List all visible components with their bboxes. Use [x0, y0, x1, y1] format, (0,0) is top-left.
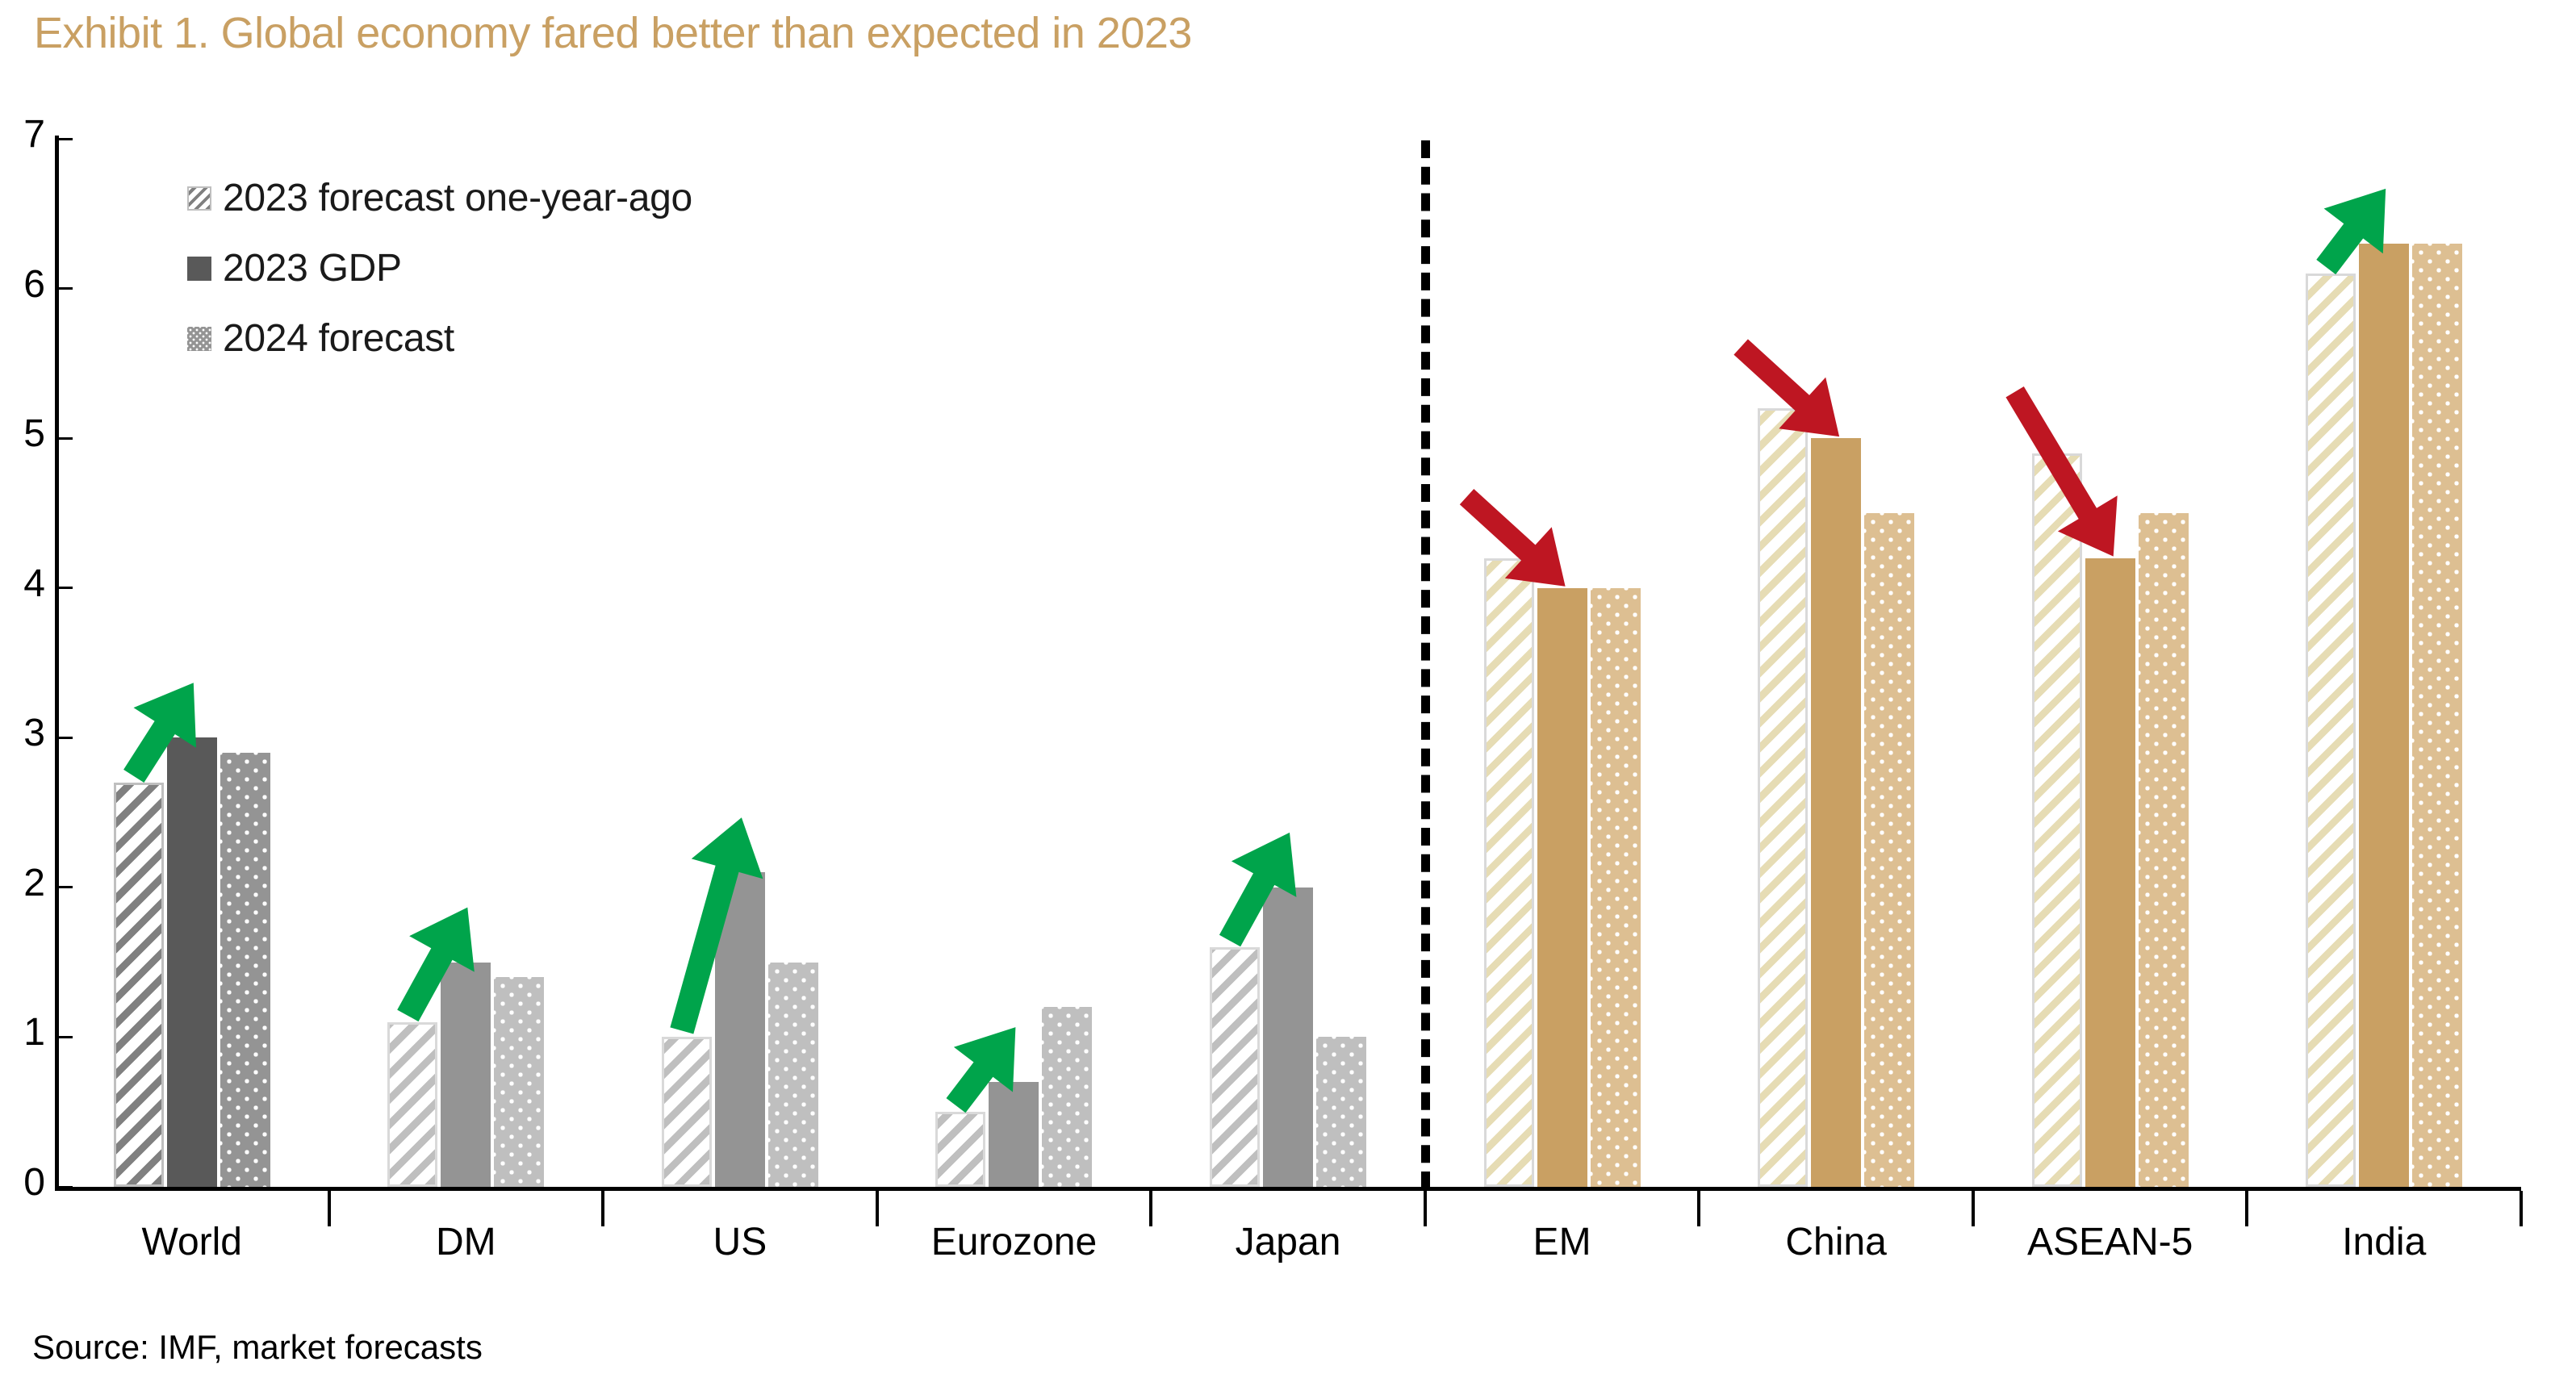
annotation-arrow	[2316, 189, 2386, 274]
annotation-arrow	[1460, 489, 1566, 587]
annotation-arrow	[123, 683, 196, 783]
chart-canvas: Exhibit 1. Global economy fared better t…	[0, 0, 2576, 1395]
annotation-arrow	[947, 1027, 1016, 1113]
annotation-arrow	[2006, 386, 2118, 557]
annotation-arrow	[1733, 339, 1839, 436]
annotation-arrow	[1219, 833, 1297, 946]
source-note: Source: IMF, market forecasts	[32, 1328, 483, 1367]
annotation-arrow	[670, 817, 763, 1034]
annotation-arrow	[397, 908, 475, 1022]
annotation-arrows-layer	[0, 0, 2576, 1395]
